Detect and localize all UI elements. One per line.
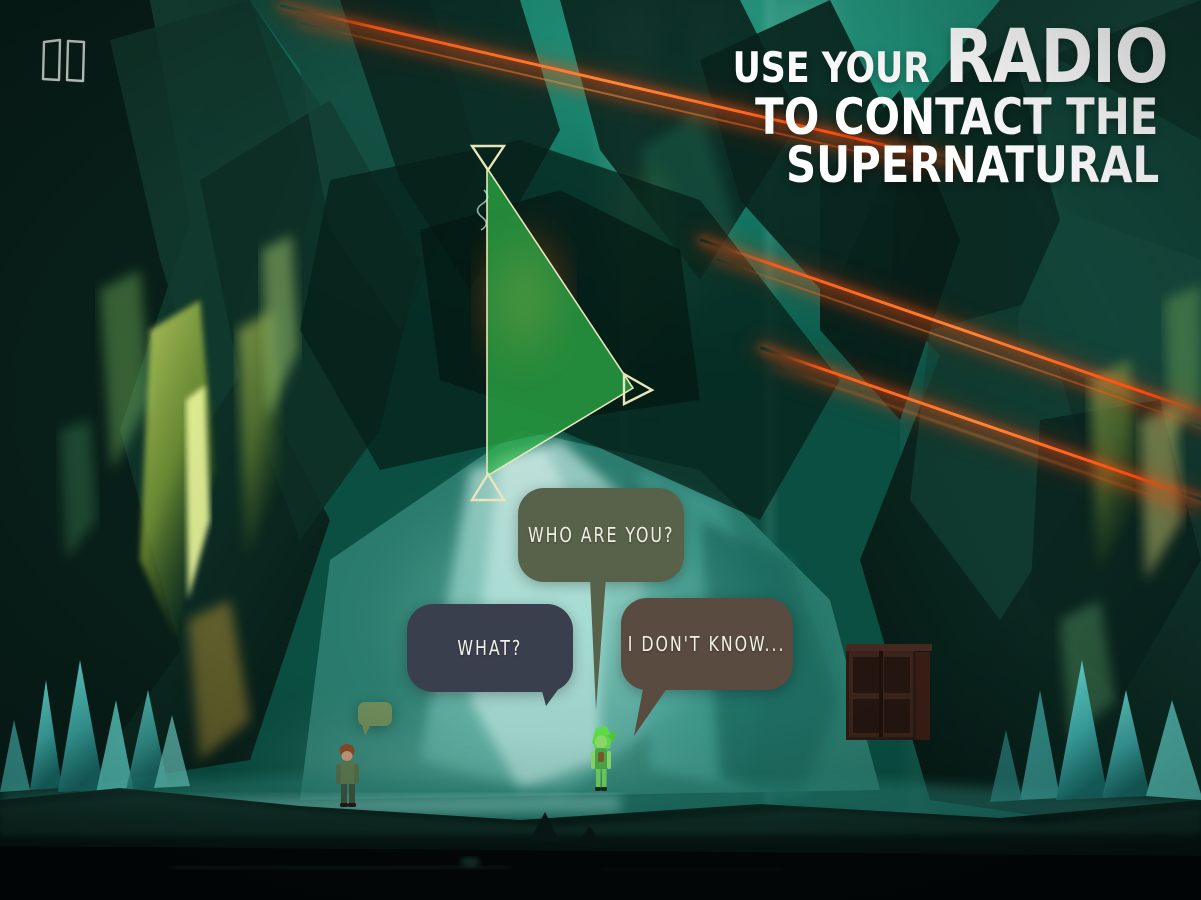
bubble-i-dont-know-text: I DON'T KNOW... [628, 632, 786, 656]
bubble-who-are-you[interactable]: WHO ARE YOU? [518, 488, 684, 582]
bubble-empty-small[interactable] [358, 702, 392, 726]
bubble-what-text: WHAT? [458, 636, 523, 660]
game-screen: WHO ARE YOU? WHAT? I DON'T KNOW... USE Y… [0, 0, 1201, 900]
bubble-who-are-you-tail [580, 578, 620, 716]
pause-button[interactable] [38, 38, 92, 84]
wooden-cabinet [846, 644, 932, 740]
bubble-i-dont-know-tail [630, 684, 676, 740]
pause-icon[interactable] [38, 38, 92, 84]
bubble-who-are-you-text: WHO ARE YOU? [528, 523, 674, 547]
bubble-empty-small-tail [362, 724, 378, 738]
bubble-i-dont-know[interactable]: I DON'T KNOW... [621, 598, 793, 690]
bubble-what-tail [538, 676, 584, 712]
